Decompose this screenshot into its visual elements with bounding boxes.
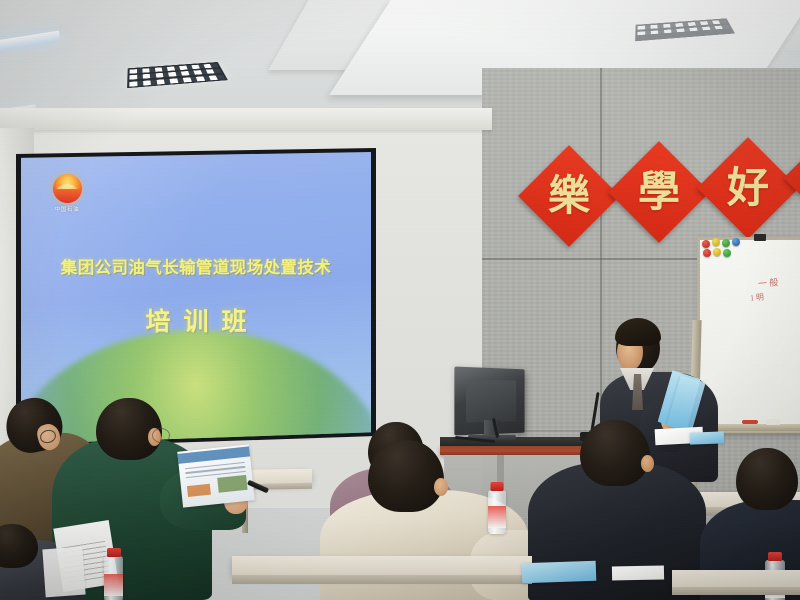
attendee-dark-suit-center-head — [580, 420, 650, 486]
banner-diamond-3: 好 — [697, 137, 799, 239]
attendee-dark-suit-right-head — [736, 448, 798, 510]
attendee-cream-jacket-ear — [434, 478, 448, 496]
projector-screen: 中国石油 集团公司油气长输管道现场处置技术 培训班 — [21, 152, 371, 444]
table-foreground-right — [672, 570, 800, 588]
bottle-cap — [491, 482, 504, 491]
blue-document-table — [522, 561, 597, 584]
banner-diamond-1: 樂 — [518, 145, 620, 247]
bottle-cap — [768, 552, 782, 561]
table-foreground-center-edge — [232, 575, 532, 584]
conference-room-photo: 樂 學 好 一 般 1 明 中国石油 集团公司油气长输管道现场处置技术 培训班 — [0, 0, 800, 600]
petrochina-logo: 中国石油 — [47, 174, 87, 213]
whiteboard-marker — [742, 420, 758, 424]
slide-subtitle: 培训班 — [21, 302, 371, 338]
booklet-photo — [218, 475, 248, 492]
table-foreground-center — [232, 556, 532, 576]
magnet-green-2 — [723, 249, 731, 257]
water-bottle-front-right — [488, 490, 506, 534]
whiteboard-ink-line-2: 1 明 — [750, 292, 765, 304]
magnet-blue-1 — [732, 238, 740, 246]
magnet-yellow-2 — [713, 248, 721, 256]
magnet-yellow-1 — [712, 238, 720, 246]
banner-character-3: 好 — [712, 152, 784, 224]
podium-blue-folder — [690, 431, 724, 444]
bottle-label — [104, 574, 123, 596]
booklet-photo-2 — [187, 483, 211, 497]
logo-caption: 中国石油 — [47, 205, 87, 213]
table-foreground-right-edge — [672, 587, 800, 595]
magnet-red-2 — [703, 249, 711, 257]
petrochina-sun-logo-icon — [53, 174, 82, 203]
bottle-label — [488, 506, 506, 528]
magnet-green-1 — [722, 239, 730, 247]
paper-table-right — [612, 566, 664, 581]
attendee-dark-suit-center-ear — [641, 455, 654, 472]
attendee-cream-jacket-head — [368, 440, 444, 512]
banner-character-1: 樂 — [533, 160, 605, 232]
banner-diamond-2: 學 — [608, 141, 710, 243]
magnet-red-1 — [702, 240, 710, 248]
attendee-glasses-green — [152, 428, 170, 443]
slide-title: 集团公司油气长输管道现场处置技术 — [21, 254, 371, 278]
water-bottle-front-left — [104, 556, 123, 600]
handout-paper-left-2 — [42, 547, 85, 598]
whiteboard-ink-line-1: 一 般 — [758, 275, 779, 289]
training-booklet — [177, 444, 254, 507]
wall-beam — [0, 108, 492, 130]
whiteboard-clip — [754, 234, 766, 241]
bottle-cap — [107, 548, 121, 557]
banner-character-2: 學 — [623, 156, 695, 228]
whiteboard-eraser — [766, 419, 780, 425]
